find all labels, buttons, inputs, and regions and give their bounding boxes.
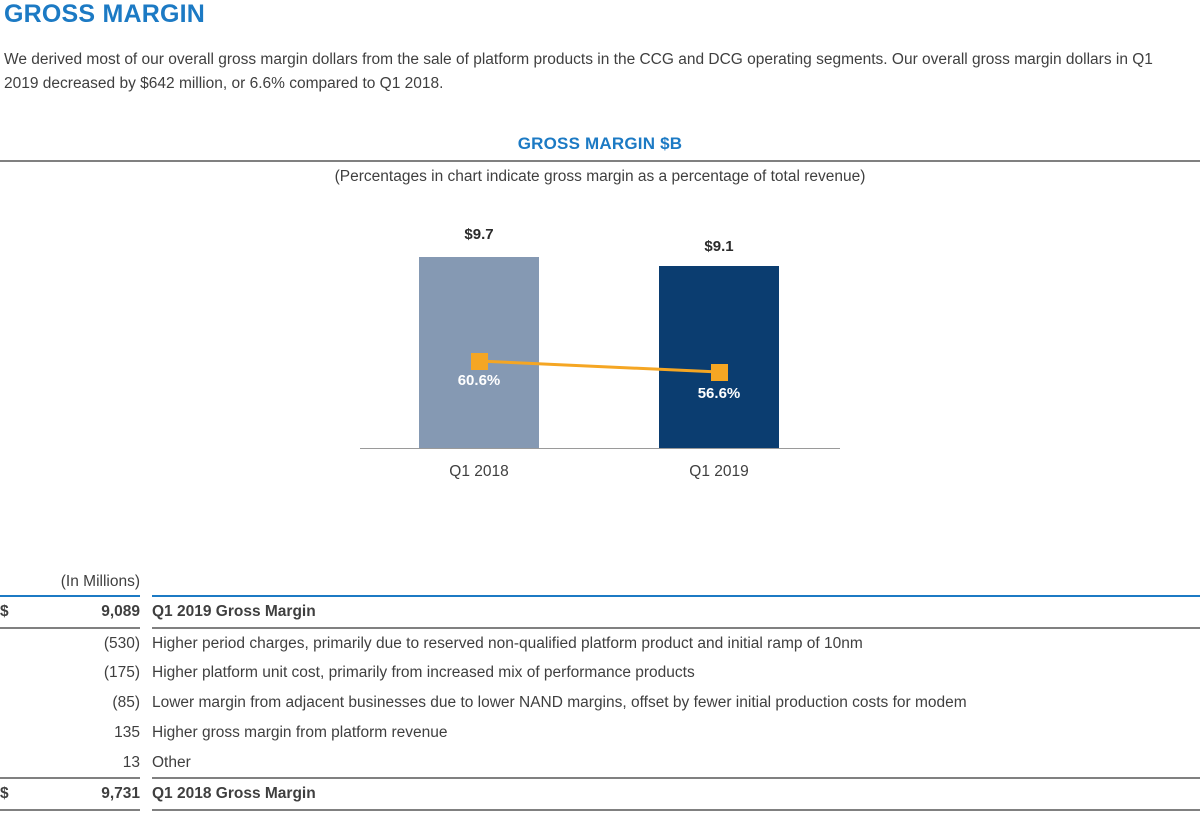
row-gap: [140, 748, 152, 778]
header-description-cell: [152, 568, 1200, 596]
table-row: 135 Higher gross margin from platform re…: [0, 718, 1200, 748]
row-amount: (530): [26, 628, 140, 658]
row-symbol: [0, 628, 26, 658]
table-row: (175) Higher platform unit cost, primari…: [0, 658, 1200, 688]
table-row: $ 9,089 Q1 2019 Gross Margin: [0, 596, 1200, 628]
row-gap: [140, 778, 152, 810]
category-label-q1-2019: Q1 2019: [659, 463, 779, 481]
row-gap: [140, 658, 152, 688]
row-amount: (175): [26, 658, 140, 688]
intro-paragraph: We derived most of our overall gross mar…: [4, 48, 1184, 96]
chart-subtitle: (Percentages in chart indicate gross mar…: [0, 168, 1200, 186]
header-gap-cell: [140, 568, 152, 596]
row-description: Higher period charges, primarily due to …: [152, 628, 1200, 658]
row-amount: 9,089: [26, 596, 140, 628]
row-gap: [140, 688, 152, 718]
table-row: (530) Higher period charges, primarily d…: [0, 628, 1200, 658]
row-description: Higher platform unit cost, primarily fro…: [152, 658, 1200, 688]
chart-title: GROSS MARGIN $B: [0, 134, 1200, 154]
gross-margin-reconciliation-table: (In Millions) $ 9,089 Q1 2019 Gross Marg…: [0, 568, 1200, 811]
row-symbol: $: [0, 596, 26, 628]
row-description: Higher gross margin from platform revenu…: [152, 718, 1200, 748]
page-title: GROSS MARGIN: [4, 0, 205, 29]
row-description: Q1 2019 Gross Margin: [152, 596, 1200, 628]
row-symbol: $: [0, 778, 26, 810]
row-symbol: [0, 688, 26, 718]
table-row: (85) Lower margin from adjacent business…: [0, 688, 1200, 718]
row-gap: [140, 628, 152, 658]
chart-top-rule: [0, 160, 1200, 162]
row-description: Other: [152, 748, 1200, 778]
row-amount: 9,731: [26, 778, 140, 810]
margin-percent-trend-line: [0, 200, 1200, 500]
header-symbol-cell: [0, 568, 26, 596]
document-page: GROSS MARGIN We derived most of our over…: [0, 0, 1200, 815]
row-amount: 135: [26, 718, 140, 748]
row-gap: [140, 718, 152, 748]
row-symbol: [0, 658, 26, 688]
row-description: Q1 2018 Gross Margin: [152, 778, 1200, 810]
row-amount: 13: [26, 748, 140, 778]
units-label: (In Millions): [26, 568, 140, 596]
table-row: 13 Other: [0, 748, 1200, 778]
category-label-q1-2018: Q1 2018: [419, 463, 539, 481]
row-description: Lower margin from adjacent businesses du…: [152, 688, 1200, 718]
row-amount: (85): [26, 688, 140, 718]
row-symbol: [0, 748, 26, 778]
row-gap: [140, 596, 152, 628]
table-header-row: (In Millions): [0, 568, 1200, 596]
row-symbol: [0, 718, 26, 748]
gross-margin-bar-chart: $9.7 $9.1 60.6% 56.6% Q1 2018 Q1 2019: [0, 200, 1200, 500]
table-row: $ 9,731 Q1 2018 Gross Margin: [0, 778, 1200, 810]
